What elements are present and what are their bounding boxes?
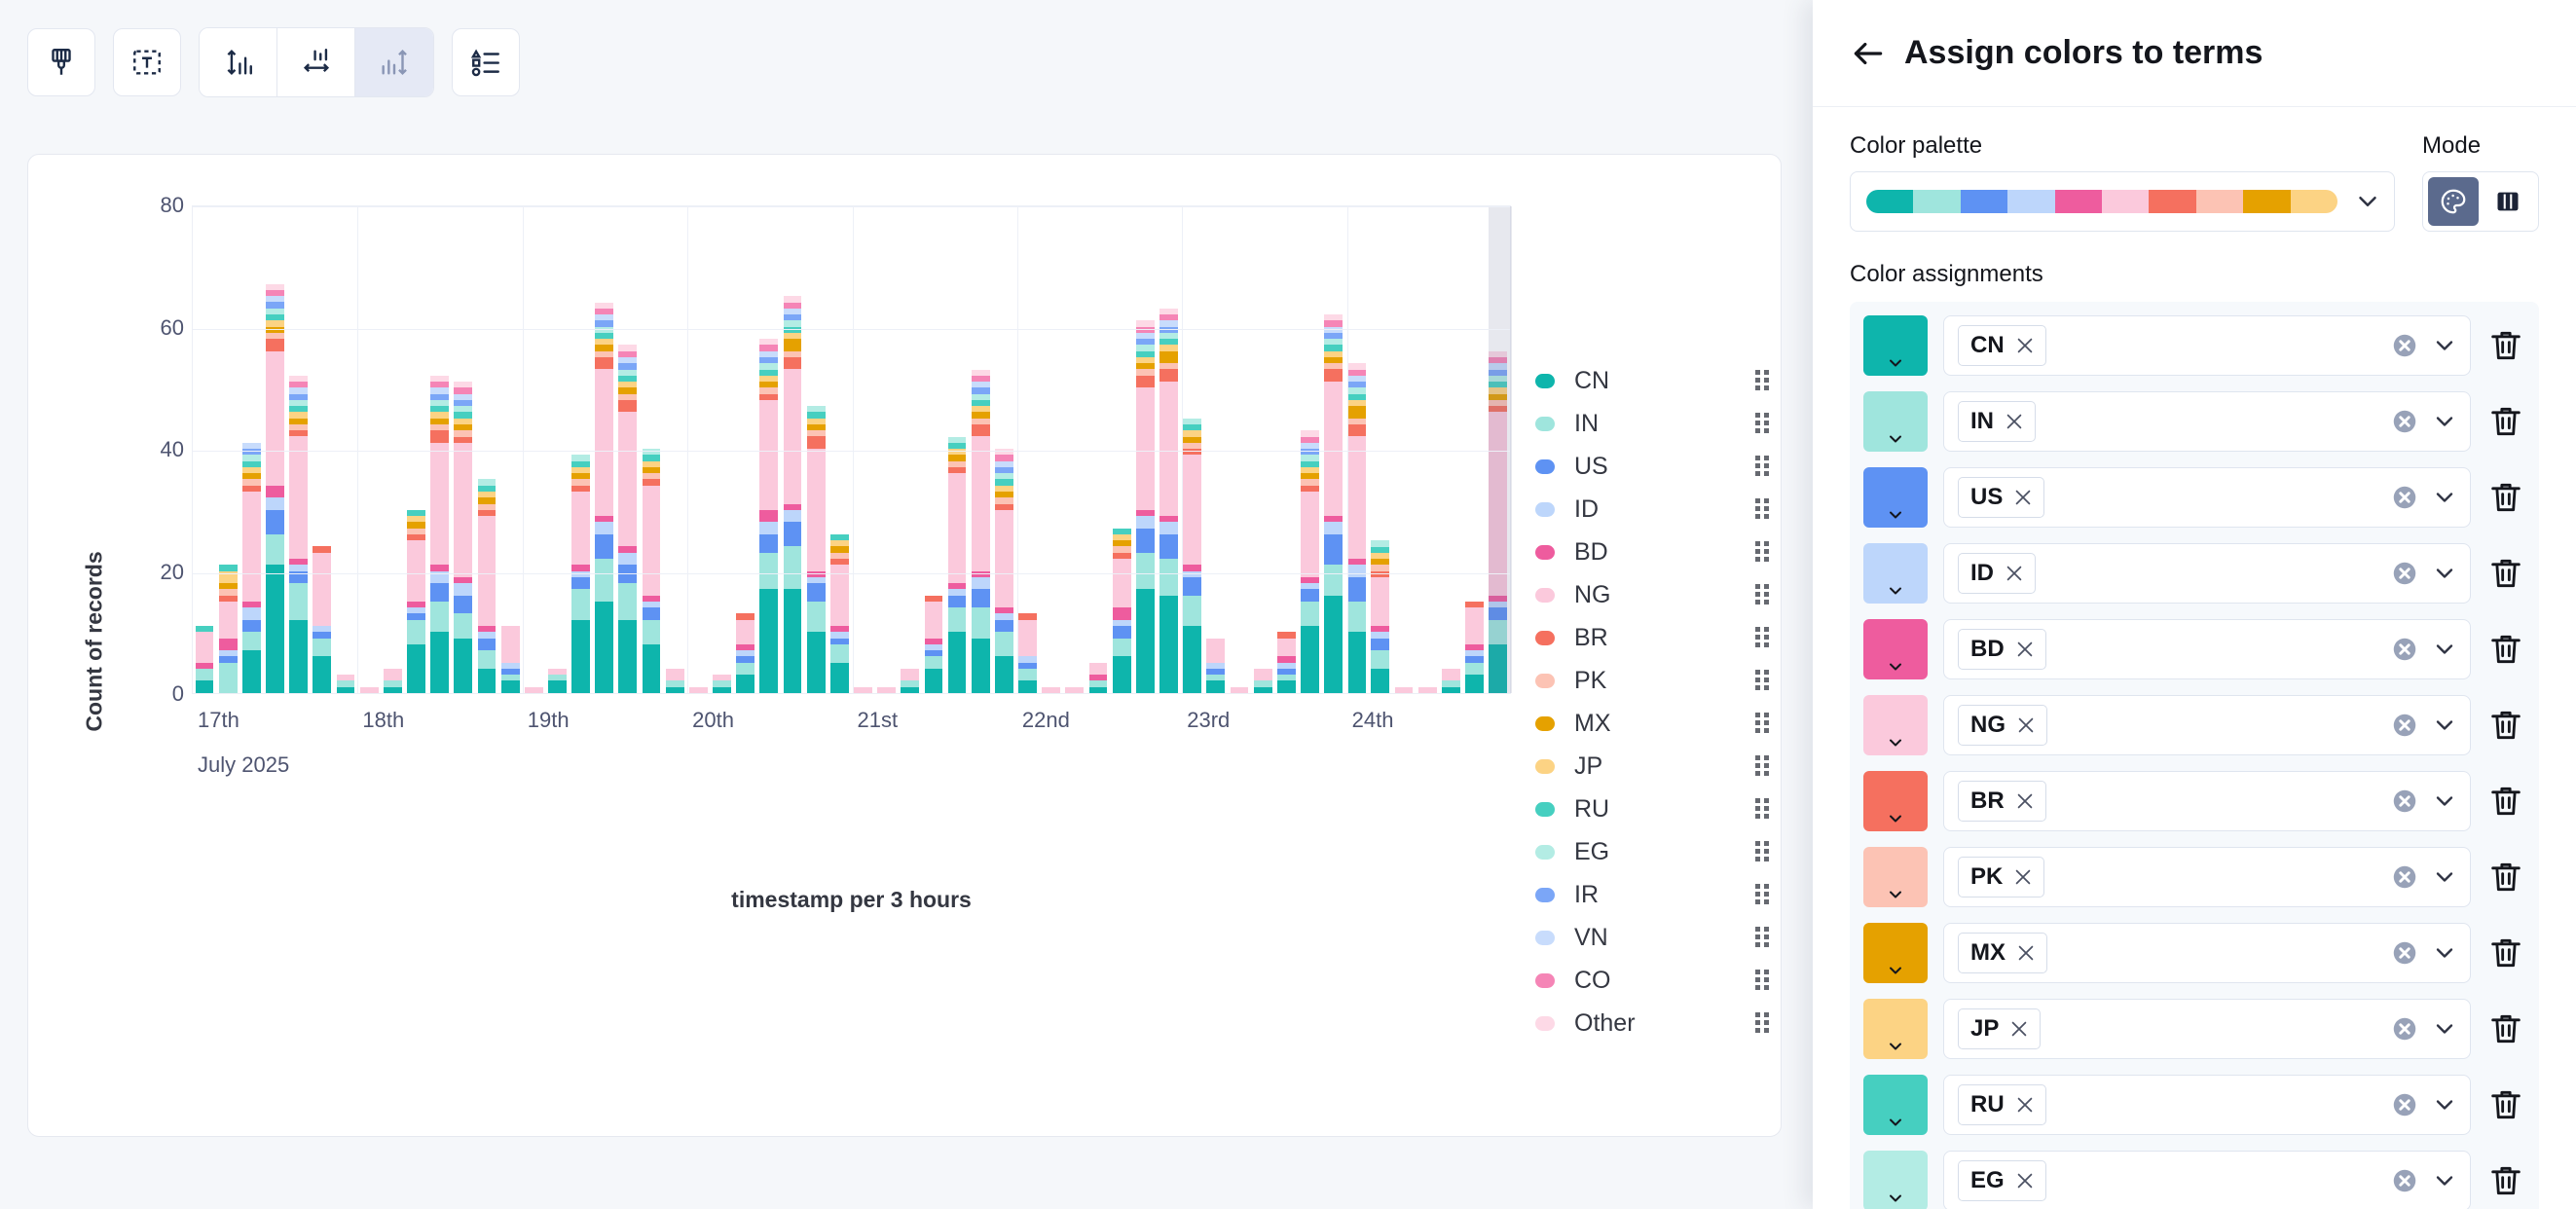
bar-segment[interactable] — [407, 644, 425, 693]
remove-term-icon[interactable] — [2014, 790, 2036, 812]
bar-segment[interactable] — [759, 534, 778, 553]
bar-segment[interactable] — [1489, 607, 1507, 620]
bar-segment[interactable] — [595, 357, 613, 370]
bar-segment[interactable] — [1347, 424, 1366, 437]
bar-segment[interactable] — [266, 497, 284, 510]
bar-segment[interactable] — [1465, 675, 1484, 693]
bar-segment[interactable] — [266, 565, 284, 693]
drag-handle-icon[interactable] — [1755, 1012, 1769, 1034]
stacked-bar[interactable] — [454, 382, 472, 693]
bar-segment[interactable] — [1301, 626, 1319, 693]
bar-segment[interactable] — [1277, 680, 1296, 693]
bar-segment[interactable] — [925, 669, 943, 693]
stacked-bar[interactable] — [1371, 540, 1389, 693]
term-combobox[interactable]: BD — [1943, 619, 2471, 679]
bar-segment[interactable] — [219, 663, 238, 693]
chevron-down-icon[interactable] — [2431, 1091, 2458, 1118]
legend-item-other[interactable]: Other — [1535, 1002, 1769, 1044]
bar-segment[interactable] — [266, 534, 284, 565]
bar-segment[interactable] — [807, 449, 826, 571]
text-annotation-button[interactable] — [113, 28, 181, 96]
bar-segment[interactable] — [1206, 639, 1225, 663]
bar-segment[interactable] — [1042, 687, 1060, 693]
palette-select[interactable] — [1850, 171, 2395, 232]
remove-term-icon[interactable] — [2015, 714, 2037, 736]
bar-segment[interactable] — [925, 602, 943, 639]
bar-segment[interactable] — [1254, 687, 1272, 693]
bar-segment[interactable] — [643, 644, 661, 693]
bar-segment[interactable] — [1159, 559, 1178, 596]
bar-segment[interactable] — [759, 553, 778, 590]
bar-segment[interactable] — [454, 583, 472, 596]
bar-segment[interactable] — [1183, 577, 1201, 596]
bar-segment[interactable] — [196, 680, 214, 693]
color-swatch-picker[interactable] — [1863, 619, 1928, 679]
stacked-bar[interactable] — [407, 510, 425, 693]
stacked-bar[interactable] — [1347, 363, 1366, 693]
chevron-down-icon[interactable] — [2431, 560, 2458, 587]
bar-segment[interactable] — [1159, 382, 1178, 516]
bar-segment[interactable] — [972, 577, 990, 590]
drag-handle-icon[interactable] — [1755, 970, 1769, 991]
bar-segment[interactable] — [1159, 534, 1178, 559]
drag-handle-icon[interactable] — [1755, 541, 1769, 563]
delete-assignment-button[interactable] — [2486, 706, 2525, 745]
bar-segment[interactable] — [337, 687, 355, 693]
bar-segment[interactable] — [784, 357, 802, 370]
bar-segment[interactable] — [1113, 607, 1131, 620]
stacked-bar[interactable] — [313, 546, 331, 693]
chevron-down-icon[interactable] — [2431, 1167, 2458, 1194]
bar-segment[interactable] — [430, 430, 449, 443]
remove-term-icon[interactable] — [2014, 1094, 2036, 1116]
bar-segment[interactable] — [618, 400, 637, 413]
bar-segment[interactable] — [713, 687, 731, 693]
stacked-bar[interactable] — [219, 565, 238, 693]
legend-item-co[interactable]: CO — [1535, 959, 1769, 1002]
bar-segment[interactable] — [289, 436, 308, 559]
stacked-bar[interactable] — [1254, 669, 1272, 693]
bar-segment[interactable] — [1324, 382, 1343, 516]
bar-segment[interactable] — [1089, 663, 1108, 676]
stacked-bar[interactable] — [830, 534, 849, 693]
bar-segment[interactable] — [1183, 455, 1201, 565]
bar-segment[interactable] — [1371, 577, 1389, 626]
legend-item-cn[interactable]: CN — [1535, 359, 1769, 402]
stacked-bar[interactable] — [501, 626, 520, 693]
bar-segment[interactable] — [736, 675, 754, 693]
clear-selection-icon[interactable] — [2390, 331, 2419, 360]
bar-segment[interactable] — [830, 644, 849, 663]
stacked-bar[interactable] — [1301, 430, 1319, 693]
color-swatch-picker[interactable] — [1863, 847, 1928, 907]
bar-segment[interactable] — [784, 339, 802, 351]
bar-segment[interactable] — [478, 516, 497, 626]
color-swatch-picker[interactable] — [1863, 467, 1928, 528]
legend-item-ng[interactable]: NG — [1535, 573, 1769, 616]
stacked-bar[interactable] — [525, 687, 543, 693]
remove-term-icon[interactable] — [2004, 411, 2025, 432]
drag-handle-icon[interactable] — [1755, 798, 1769, 820]
bar-segment[interactable] — [1113, 559, 1131, 607]
bar-segment[interactable] — [266, 351, 284, 486]
stacked-bar[interactable] — [1089, 663, 1108, 693]
color-swatch-picker[interactable] — [1863, 1151, 1928, 1209]
back-arrow-icon[interactable] — [1850, 35, 1887, 72]
bar-segment[interactable] — [454, 443, 472, 577]
bar-segment[interactable] — [1371, 669, 1389, 693]
bar-segment[interactable] — [384, 669, 402, 681]
bar-segment[interactable] — [618, 620, 637, 693]
legend-item-br[interactable]: BR — [1535, 616, 1769, 659]
bar-segment[interactable] — [360, 687, 379, 693]
bar-segment[interactable] — [313, 656, 331, 693]
stacked-bar[interactable] — [548, 669, 567, 693]
clear-selection-icon[interactable] — [2390, 938, 2419, 968]
bar-orientation-button[interactable] — [355, 28, 433, 96]
bar-segment[interactable] — [478, 669, 497, 693]
bar-segment[interactable] — [430, 583, 449, 602]
stacked-bar[interactable] — [807, 406, 826, 693]
chevron-down-icon[interactable] — [2431, 484, 2458, 511]
stacked-bar[interactable] — [571, 455, 590, 693]
bar-segment[interactable] — [313, 553, 331, 626]
delete-assignment-button[interactable] — [2486, 326, 2525, 365]
remove-term-icon[interactable] — [2004, 563, 2025, 584]
bar-segment[interactable] — [1136, 376, 1155, 388]
bar-segment[interactable] — [995, 510, 1013, 607]
bar-segment[interactable] — [1159, 596, 1178, 693]
bar-segment[interactable] — [784, 589, 802, 693]
color-swatch-picker[interactable] — [1863, 1075, 1928, 1135]
chevron-down-icon[interactable] — [2431, 332, 2458, 359]
bar-segment[interactable] — [571, 589, 590, 619]
bar-segment[interactable] — [266, 339, 284, 351]
bar-segment[interactable] — [525, 687, 543, 693]
bar-segment[interactable] — [501, 680, 520, 693]
bar-segment[interactable] — [454, 596, 472, 614]
bar-segment[interactable] — [643, 607, 661, 620]
bar-segment[interactable] — [571, 577, 590, 590]
clear-selection-icon[interactable] — [2390, 711, 2419, 740]
bar-segment[interactable] — [1347, 565, 1366, 577]
bar-segment[interactable] — [478, 650, 497, 669]
stacked-bar[interactable] — [854, 687, 872, 693]
bar-segment[interactable] — [289, 583, 308, 620]
stacked-bar[interactable] — [595, 303, 613, 693]
clear-selection-icon[interactable] — [2390, 787, 2419, 816]
clear-selection-icon[interactable] — [2390, 1090, 2419, 1119]
stacked-bar[interactable] — [1489, 351, 1507, 693]
bar-segment[interactable] — [571, 620, 590, 693]
bar-segment[interactable] — [219, 602, 238, 639]
bar-segment[interactable] — [1324, 522, 1343, 534]
bar-segment[interactable] — [1277, 639, 1296, 657]
bar-segment[interactable] — [478, 639, 497, 651]
stacked-bar[interactable] — [1231, 687, 1249, 693]
chevron-down-icon[interactable] — [2431, 939, 2458, 967]
bar-segment[interactable] — [242, 620, 261, 633]
legend-item-in[interactable]: IN — [1535, 402, 1769, 445]
bar-segment[interactable] — [972, 589, 990, 607]
stacked-bar[interactable] — [759, 339, 778, 693]
term-combobox[interactable]: ID — [1943, 543, 2471, 604]
bar-segment[interactable] — [972, 424, 990, 437]
bar-segment[interactable] — [995, 632, 1013, 656]
bar-segment[interactable] — [830, 663, 849, 693]
bar-segment[interactable] — [1347, 406, 1366, 419]
drag-handle-icon[interactable] — [1755, 713, 1769, 734]
clear-selection-icon[interactable] — [2390, 483, 2419, 512]
drag-handle-icon[interactable] — [1755, 498, 1769, 520]
bar-segment[interactable] — [854, 687, 872, 693]
chevron-down-icon[interactable] — [2431, 408, 2458, 435]
bar-segment[interactable] — [1489, 412, 1507, 595]
bar-segment[interactable] — [643, 620, 661, 644]
legend-item-mx[interactable]: MX — [1535, 702, 1769, 745]
bar-segment[interactable] — [313, 639, 331, 657]
bar-segment[interactable] — [972, 436, 990, 570]
clear-selection-icon[interactable] — [2390, 407, 2419, 436]
bar-segment[interactable] — [1324, 596, 1343, 693]
stacked-bar[interactable] — [266, 284, 284, 693]
bar-segment[interactable] — [1089, 687, 1108, 693]
legend-item-bd[interactable]: BD — [1535, 531, 1769, 573]
bar-segment[interactable] — [1465, 663, 1484, 676]
stacked-bar[interactable] — [1277, 632, 1296, 693]
bar-segment[interactable] — [618, 553, 637, 566]
bar-segment[interactable] — [643, 486, 661, 596]
delete-assignment-button[interactable] — [2486, 1085, 2525, 1124]
term-combobox[interactable]: BR — [1943, 771, 2471, 831]
delete-assignment-button[interactable] — [2486, 782, 2525, 821]
bar-segment[interactable] — [759, 589, 778, 693]
stacked-bar[interactable] — [384, 669, 402, 693]
legend-item-id[interactable]: ID — [1535, 488, 1769, 531]
remove-term-icon[interactable] — [2014, 1170, 2036, 1191]
bar-segment[interactable] — [595, 559, 613, 602]
vertical-axis-button[interactable] — [200, 28, 277, 96]
legend-item-eg[interactable]: EG — [1535, 830, 1769, 873]
color-swatch-picker[interactable] — [1863, 695, 1928, 755]
stacked-bar[interactable] — [1159, 309, 1178, 693]
bar-segment[interactable] — [1206, 680, 1225, 693]
bar-segment[interactable] — [784, 522, 802, 546]
bar-segment[interactable] — [830, 565, 849, 626]
stacked-bar[interactable] — [1042, 687, 1060, 693]
color-swatch-picker[interactable] — [1863, 315, 1928, 376]
bar-segment[interactable] — [666, 687, 684, 693]
stacked-bar[interactable] — [666, 669, 684, 693]
bar-segment[interactable] — [1113, 626, 1131, 639]
bar-segment[interactable] — [807, 583, 826, 602]
bar-segment[interactable] — [1301, 589, 1319, 602]
stacked-bar[interactable] — [196, 626, 214, 693]
stacked-bar[interactable] — [289, 376, 308, 693]
stacked-bar[interactable] — [1113, 529, 1131, 693]
stacked-bar[interactable] — [1465, 602, 1484, 693]
term-combobox[interactable]: IN — [1943, 391, 2471, 452]
bar-segment[interactable] — [1018, 620, 1037, 657]
delete-assignment-button[interactable] — [2486, 478, 2525, 517]
bar-segment[interactable] — [807, 436, 826, 449]
bar-segment[interactable] — [995, 656, 1013, 693]
bar-segment[interactable] — [595, 602, 613, 693]
bar-segment[interactable] — [1347, 436, 1366, 559]
color-swatch-picker[interactable] — [1863, 999, 1928, 1059]
drag-handle-icon[interactable] — [1755, 627, 1769, 648]
drag-handle-icon[interactable] — [1755, 413, 1769, 434]
chevron-down-icon[interactable] — [2431, 788, 2458, 815]
bar-segment[interactable] — [948, 632, 967, 693]
bar-segment[interactable] — [430, 443, 449, 566]
bar-segment[interactable] — [1136, 387, 1155, 510]
bar-segment[interactable] — [1489, 644, 1507, 693]
stacked-bar[interactable] — [995, 449, 1013, 693]
delete-assignment-button[interactable] — [2486, 1161, 2525, 1200]
legend-settings-button[interactable] — [452, 28, 520, 96]
stacked-bar[interactable] — [1324, 314, 1343, 693]
bar-segment[interactable] — [1018, 680, 1037, 693]
clear-selection-icon[interactable] — [2390, 862, 2419, 892]
bar-segment[interactable] — [948, 607, 967, 632]
remove-term-icon[interactable] — [2012, 866, 2034, 888]
bar-segment[interactable] — [1418, 687, 1437, 693]
bar-segment[interactable] — [1442, 687, 1460, 693]
term-combobox[interactable]: MX — [1943, 923, 2471, 983]
stacked-bar[interactable] — [901, 669, 919, 693]
chevron-down-icon[interactable] — [2431, 636, 2458, 663]
bar-segment[interactable] — [784, 510, 802, 523]
bar-segment[interactable] — [784, 546, 802, 589]
stacked-bar[interactable] — [736, 613, 754, 693]
bar-segment[interactable] — [548, 680, 567, 693]
legend-item-us[interactable]: US — [1535, 445, 1769, 488]
bar-segment[interactable] — [618, 412, 637, 546]
term-combobox[interactable]: PK — [1943, 847, 2471, 907]
bar-segment[interactable] — [901, 687, 919, 693]
bar-segment[interactable] — [242, 492, 261, 602]
bar-segment[interactable] — [196, 632, 214, 662]
term-combobox[interactable]: US — [1943, 467, 2471, 528]
drag-handle-icon[interactable] — [1755, 370, 1769, 391]
palette-mode-button[interactable] — [2428, 177, 2479, 226]
bar-segment[interactable] — [1183, 596, 1201, 626]
drag-handle-icon[interactable] — [1755, 456, 1769, 477]
legend-item-jp[interactable]: JP — [1535, 745, 1769, 788]
color-swatch-picker[interactable] — [1863, 391, 1928, 452]
chevron-down-icon[interactable] — [2431, 1015, 2458, 1043]
stacked-bar[interactable] — [478, 479, 497, 693]
chevron-down-icon[interactable] — [2431, 712, 2458, 739]
stacked-bar[interactable] — [618, 345, 637, 693]
drag-handle-icon[interactable] — [1755, 884, 1769, 905]
bar-segment[interactable] — [1324, 534, 1343, 565]
clear-selection-icon[interactable] — [2390, 559, 2419, 588]
bar-segment[interactable] — [1301, 602, 1319, 626]
legend-item-ir[interactable]: IR — [1535, 873, 1769, 916]
stacked-bar[interactable] — [1018, 613, 1037, 693]
term-combobox[interactable]: CN — [1943, 315, 2471, 376]
bar-segment[interactable] — [1018, 669, 1037, 681]
bar-segment[interactable] — [759, 510, 778, 523]
bar-segment[interactable] — [1371, 639, 1389, 651]
clear-selection-icon[interactable] — [2390, 1166, 2419, 1195]
bar-segment[interactable] — [454, 613, 472, 638]
stacked-bar[interactable] — [972, 370, 990, 693]
remove-term-icon[interactable] — [2014, 335, 2036, 356]
bar-segment[interactable] — [1324, 369, 1343, 382]
remove-term-icon[interactable] — [2008, 1018, 2030, 1040]
bar-segment[interactable] — [1136, 589, 1155, 693]
bar-segment[interactable] — [618, 583, 637, 620]
bar-segment[interactable] — [1347, 602, 1366, 632]
bar-segment[interactable] — [901, 669, 919, 681]
legend-item-ru[interactable]: RU — [1535, 788, 1769, 830]
bar-segment[interactable] — [289, 620, 308, 693]
bar-segment[interactable] — [1159, 351, 1178, 364]
bar-segment[interactable] — [196, 669, 214, 681]
stacked-bar[interactable] — [784, 296, 802, 693]
bar-segment[interactable] — [595, 534, 613, 559]
stacked-bar[interactable] — [877, 687, 896, 693]
bar-segment[interactable] — [1324, 565, 1343, 595]
term-combobox[interactable]: EG — [1943, 1151, 2471, 1209]
color-swatch-picker[interactable] — [1863, 771, 1928, 831]
delete-assignment-button[interactable] — [2486, 858, 2525, 897]
bar-segment[interactable] — [618, 565, 637, 583]
drag-handle-icon[interactable] — [1755, 755, 1769, 777]
bar-segment[interactable] — [242, 650, 261, 693]
delete-assignment-button[interactable] — [2486, 1009, 2525, 1048]
bar-segment[interactable] — [595, 369, 613, 516]
bar-segment[interactable] — [1159, 522, 1178, 534]
remove-term-icon[interactable] — [2014, 639, 2036, 660]
stacked-bar[interactable] — [242, 443, 261, 693]
stacked-bar[interactable] — [1136, 320, 1155, 693]
delete-assignment-button[interactable] — [2486, 630, 2525, 669]
bar-segment[interactable] — [972, 639, 990, 693]
drag-handle-icon[interactable] — [1755, 927, 1769, 948]
bar-segment[interactable] — [1442, 669, 1460, 681]
color-swatch-picker[interactable] — [1863, 923, 1928, 983]
bar-segment[interactable] — [736, 663, 754, 676]
legend-item-vn[interactable]: VN — [1535, 916, 1769, 959]
bar-segment[interactable] — [1231, 687, 1249, 693]
bar-segment[interactable] — [1395, 687, 1414, 693]
bar-segment[interactable] — [1254, 669, 1272, 681]
stacked-bar[interactable] — [689, 687, 708, 693]
bar-segment[interactable] — [784, 369, 802, 503]
bar-segment[interactable] — [1136, 529, 1155, 553]
bar-segment[interactable] — [430, 632, 449, 693]
clear-selection-icon[interactable] — [2390, 1014, 2419, 1044]
bar-segment[interactable] — [1113, 639, 1131, 657]
bar-segment[interactable] — [995, 620, 1013, 633]
drag-handle-icon[interactable] — [1755, 841, 1769, 862]
stacked-bar[interactable] — [1065, 687, 1084, 693]
stacked-bar[interactable] — [360, 687, 379, 693]
bar-segment[interactable] — [807, 632, 826, 693]
bar-segment[interactable] — [266, 486, 284, 498]
bar-segment[interactable] — [1301, 492, 1319, 577]
bar-segment[interactable] — [948, 596, 967, 608]
stacked-bar[interactable] — [1418, 687, 1437, 693]
bar-segment[interactable] — [454, 639, 472, 693]
bar-segment[interactable] — [759, 400, 778, 510]
bar-segment[interactable] — [1371, 650, 1389, 669]
bar-segment[interactable] — [807, 602, 826, 632]
